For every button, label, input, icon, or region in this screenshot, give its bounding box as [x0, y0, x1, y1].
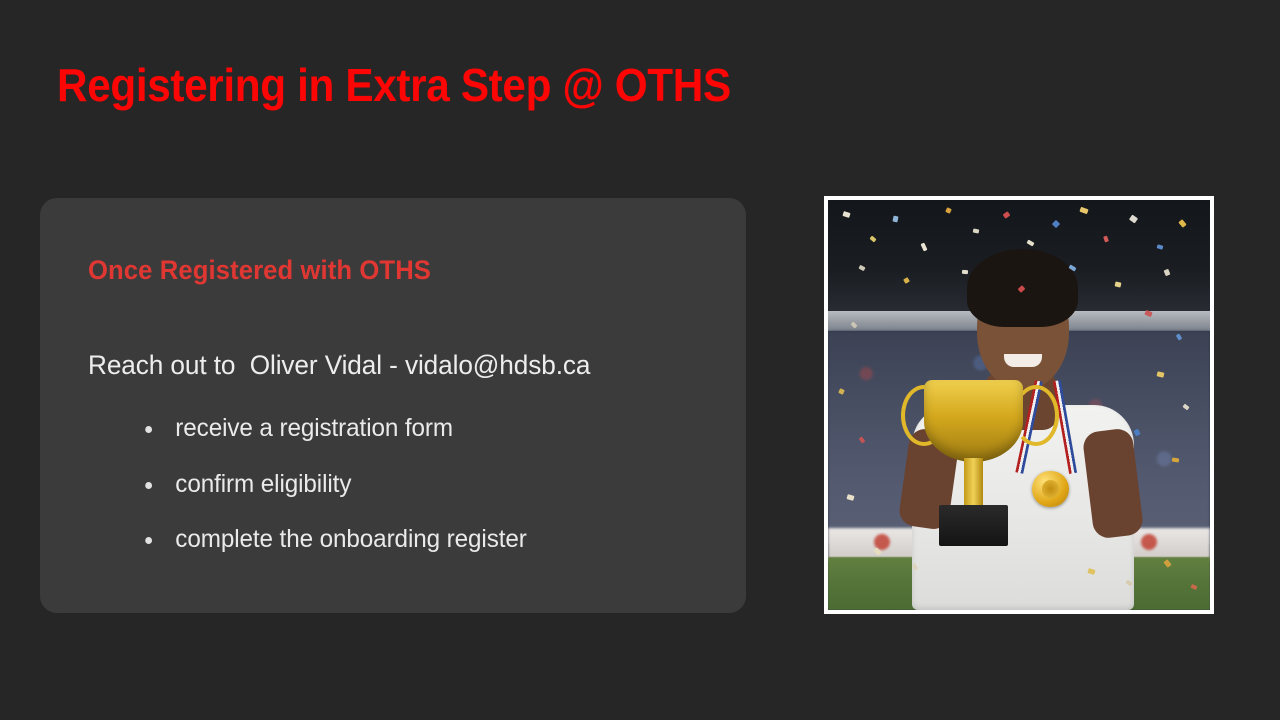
bullet-dot-icon: [145, 537, 152, 544]
trophy-athlete-photo: [828, 200, 1210, 610]
bullet-dot-icon: [145, 482, 152, 489]
gold-medal-icon: [1032, 471, 1068, 508]
list-item: confirm eligibility: [88, 471, 689, 499]
list-item-label: complete the onboarding register: [175, 525, 526, 553]
trophy-base: [939, 505, 1008, 546]
confetti-flake: [1114, 281, 1121, 287]
list-item-label: receive a registration form: [175, 414, 453, 442]
list-item: receive a registration form: [88, 415, 689, 443]
bullet-dot-icon: [145, 426, 152, 433]
list-item-label: confirm eligibility: [175, 470, 351, 498]
confetti-flake: [962, 269, 968, 274]
info-card: Once Registered with OTHS Reach out to O…: [40, 198, 746, 613]
bullet-list: receive a registration form confirm elig…: [88, 415, 708, 554]
trophy-cup: [924, 380, 1023, 462]
card-heading: Once Registered with OTHS: [88, 255, 431, 286]
photo-frame: [824, 196, 1214, 614]
trophy-stem: [964, 458, 983, 507]
athlete-smile: [1004, 354, 1042, 367]
contact-line: Reach out to Oliver Vidal - vidalo@hdsb.…: [88, 350, 590, 381]
list-item: complete the onboarding register: [88, 526, 689, 554]
confetti-flake: [973, 228, 980, 233]
slide: Registering in Extra Step @ OTHS Once Re…: [0, 0, 1280, 720]
page-title: Registering in Extra Step @ OTHS: [57, 60, 885, 111]
